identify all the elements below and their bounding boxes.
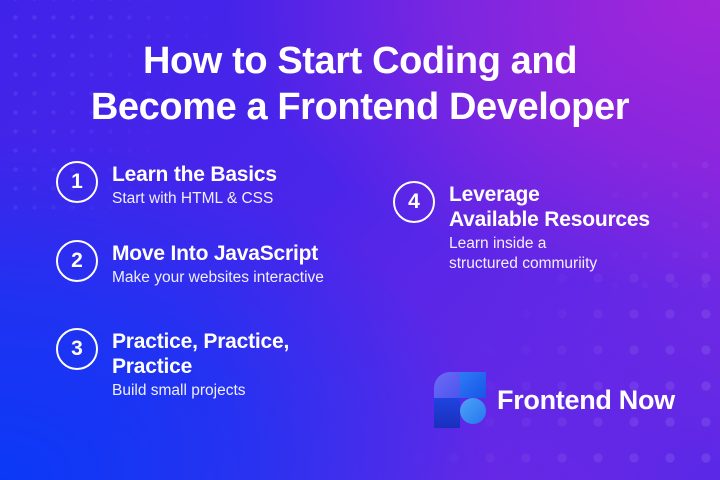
step-number-badge-4: 4 <box>393 181 435 223</box>
step-subtitle-3: Build small projects <box>112 381 289 401</box>
step-subtitle-4: Learn inside a structured commuriity <box>449 234 650 274</box>
frontend-now-f-logo-icon <box>434 372 486 428</box>
step-title-4: Leverage Available Resources <box>449 182 650 232</box>
step-title-3: Practice, Practice, Practice <box>112 329 289 379</box>
step-title-2: Move Into JavaScript <box>112 241 324 266</box>
step-text-4: Leverage Available Resources Learn insid… <box>449 181 650 274</box>
step-item-4: 4 Leverage Available Resources Learn ins… <box>393 181 650 274</box>
page-title-line-1: How to Start Coding and <box>26 38 694 84</box>
step-title-1: Learn the Basics <box>112 162 277 187</box>
step-subtitle-1: Start with HTML & CSS <box>112 189 277 209</box>
step-text-2: Move Into JavaScript Make your websites … <box>112 240 324 288</box>
page-title: How to Start Coding and Become a Fronten… <box>0 38 720 130</box>
page-title-line-2: Become a Frontend Developer <box>26 84 694 130</box>
step-number-badge-2: 2 <box>56 240 98 282</box>
dot-pattern-bottom-right-decoration <box>390 250 720 480</box>
infographic-poster: How to Start Coding and Become a Fronten… <box>0 0 720 480</box>
step-number-badge-1: 1 <box>56 161 98 203</box>
step-item-2: 2 Move Into JavaScript Make your website… <box>56 240 324 288</box>
step-text-1: Learn the Basics Start with HTML & CSS <box>112 161 277 209</box>
step-number-badge-3: 3 <box>56 328 98 370</box>
brand-lockup: Frontend Now <box>434 372 675 428</box>
step-text-3: Practice, Practice, Practice Build small… <box>112 328 289 401</box>
step-item-3: 3 Practice, Practice, Practice Build sma… <box>56 328 289 401</box>
step-subtitle-2: Make your websites interactive <box>112 268 324 288</box>
step-item-1: 1 Learn the Basics Start with HTML & CSS <box>56 161 277 209</box>
brand-name: Frontend Now <box>497 385 675 416</box>
